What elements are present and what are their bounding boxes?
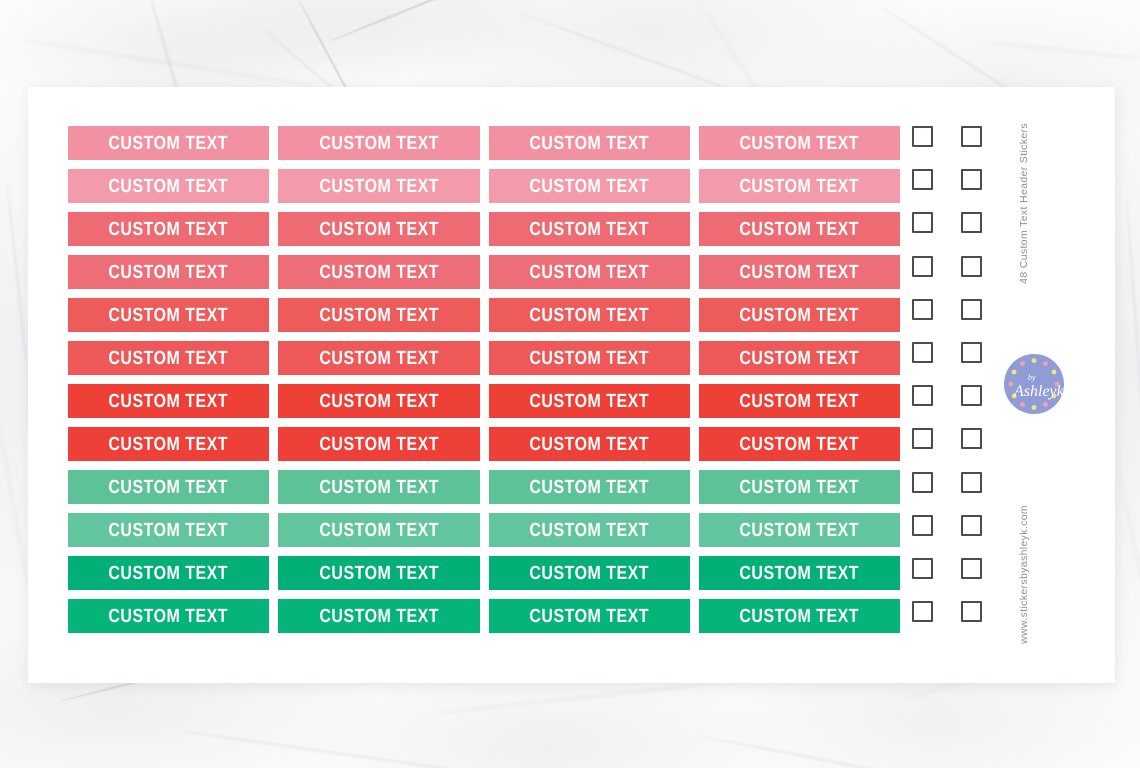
sticker[interactable]: CUSTOM TEXT	[68, 255, 269, 289]
checkbox-sticker[interactable]	[912, 126, 933, 147]
sticker[interactable]: CUSTOM TEXT	[699, 513, 900, 547]
checkbox-sticker[interactable]	[961, 169, 982, 190]
sticker[interactable]: CUSTOM TEXT	[699, 427, 900, 461]
sticker-label: CUSTOM TEXT	[529, 349, 649, 368]
sticker[interactable]: CUSTOM TEXT	[699, 169, 900, 203]
sticker[interactable]: CUSTOM TEXT	[489, 556, 690, 590]
sticker[interactable]: CUSTOM TEXT	[489, 427, 690, 461]
checkbox-sticker[interactable]	[912, 515, 933, 536]
sticker[interactable]: CUSTOM TEXT	[489, 212, 690, 246]
sticker-label: CUSTOM TEXT	[109, 306, 229, 325]
product-title-vertical: 48 Custom Text Header Stickers	[1018, 123, 1030, 284]
sticker[interactable]: CUSTOM TEXT	[278, 255, 479, 289]
sticker[interactable]: CUSTOM TEXT	[699, 126, 900, 160]
sticker-label: CUSTOM TEXT	[319, 220, 439, 239]
sticker-row: CUSTOM TEXT CUSTOM TEXT CUSTOM TEXT CUST…	[68, 427, 900, 461]
brand-badge: by Ashleyk	[1001, 351, 1067, 417]
sticker-row: CUSTOM TEXT CUSTOM TEXT CUSTOM TEXT CUST…	[68, 212, 900, 246]
sticker[interactable]: CUSTOM TEXT	[278, 341, 479, 375]
sticker-label: CUSTOM TEXT	[740, 607, 860, 626]
sticker[interactable]: CUSTOM TEXT	[278, 298, 479, 332]
checkbox-sticker[interactable]	[961, 256, 982, 277]
sticker-label: CUSTOM TEXT	[529, 220, 649, 239]
checkbox-sticker[interactable]	[912, 342, 933, 363]
sticker[interactable]: CUSTOM TEXT	[278, 126, 479, 160]
sticker[interactable]: CUSTOM TEXT	[68, 169, 269, 203]
sticker-label: CUSTOM TEXT	[740, 435, 860, 454]
sticker-row: CUSTOM TEXT CUSTOM TEXT CUSTOM TEXT CUST…	[68, 298, 900, 332]
sticker-label: CUSTOM TEXT	[529, 263, 649, 282]
checkbox-sticker[interactable]	[912, 385, 933, 406]
sticker-label: CUSTOM TEXT	[319, 134, 439, 153]
sticker-label: CUSTOM TEXT	[740, 134, 860, 153]
sticker-card: CUSTOM TEXT CUSTOM TEXT CUSTOM TEXT CUST…	[28, 87, 1115, 683]
sticker-label: CUSTOM TEXT	[109, 521, 229, 540]
checkbox-sticker[interactable]	[961, 126, 982, 147]
sticker-label: CUSTOM TEXT	[319, 478, 439, 497]
checkbox-sticker[interactable]	[961, 342, 982, 363]
sticker-label: CUSTOM TEXT	[109, 220, 229, 239]
sticker[interactable]: CUSTOM TEXT	[278, 556, 479, 590]
sticker-label: CUSTOM TEXT	[109, 263, 229, 282]
checkbox-sticker[interactable]	[912, 472, 933, 493]
sticker-row: CUSTOM TEXT CUSTOM TEXT CUSTOM TEXT CUST…	[68, 470, 900, 504]
sticker[interactable]: CUSTOM TEXT	[278, 212, 479, 246]
sticker[interactable]: CUSTOM TEXT	[278, 169, 479, 203]
checkbox-sticker[interactable]	[912, 212, 933, 233]
sticker-row: CUSTOM TEXT CUSTOM TEXT CUSTOM TEXT CUST…	[68, 513, 900, 547]
checkbox-sticker[interactable]	[912, 299, 933, 320]
sticker-row: CUSTOM TEXT CUSTOM TEXT CUSTOM TEXT CUST…	[68, 556, 900, 590]
sticker[interactable]: CUSTOM TEXT	[278, 427, 479, 461]
checkbox-sticker[interactable]	[912, 558, 933, 579]
brand-badge-icon: by Ashleyk	[1001, 351, 1067, 417]
sticker[interactable]: CUSTOM TEXT	[699, 556, 900, 590]
sticker[interactable]: CUSTOM TEXT	[489, 341, 690, 375]
sticker-sheet-page: CUSTOM TEXT CUSTOM TEXT CUSTOM TEXT CUST…	[0, 0, 1140, 768]
website-url-vertical: www.stickersbyashleyk.com	[1018, 505, 1030, 644]
sticker-label: CUSTOM TEXT	[109, 349, 229, 368]
sticker-grid: CUSTOM TEXT CUSTOM TEXT CUSTOM TEXT CUST…	[68, 126, 900, 642]
sticker[interactable]: CUSTOM TEXT	[278, 513, 479, 547]
sticker[interactable]: CUSTOM TEXT	[489, 169, 690, 203]
sticker[interactable]: CUSTOM TEXT	[68, 212, 269, 246]
checkbox-column-2	[961, 126, 982, 622]
sticker-label: CUSTOM TEXT	[740, 220, 860, 239]
sticker-label: CUSTOM TEXT	[109, 435, 229, 454]
sticker-label: CUSTOM TEXT	[529, 521, 649, 540]
checkbox-sticker[interactable]	[961, 515, 982, 536]
svg-text:Ashleyk: Ashleyk	[1013, 383, 1065, 400]
sticker-label: CUSTOM TEXT	[529, 134, 649, 153]
sticker[interactable]: CUSTOM TEXT	[278, 470, 479, 504]
sticker[interactable]: CUSTOM TEXT	[68, 470, 269, 504]
sticker-label: CUSTOM TEXT	[109, 564, 229, 583]
sticker-label: CUSTOM TEXT	[529, 435, 649, 454]
sticker[interactable]: CUSTOM TEXT	[699, 384, 900, 418]
checkbox-sticker[interactable]	[961, 428, 982, 449]
svg-text:by: by	[1028, 373, 1036, 382]
sticker[interactable]: CUSTOM TEXT	[699, 298, 900, 332]
checkbox-sticker-area	[912, 126, 982, 622]
sticker-row: CUSTOM TEXT CUSTOM TEXT CUSTOM TEXT CUST…	[68, 169, 900, 203]
sticker-label: CUSTOM TEXT	[529, 478, 649, 497]
checkbox-sticker[interactable]	[961, 385, 982, 406]
sticker-row: CUSTOM TEXT CUSTOM TEXT CUSTOM TEXT CUST…	[68, 341, 900, 375]
sticker-label: CUSTOM TEXT	[109, 478, 229, 497]
sticker-row: CUSTOM TEXT CUSTOM TEXT CUSTOM TEXT CUST…	[68, 599, 900, 633]
sticker-label: CUSTOM TEXT	[529, 177, 649, 196]
sticker-label: CUSTOM TEXT	[319, 521, 439, 540]
sticker-label: CUSTOM TEXT	[740, 392, 860, 411]
sticker-label: CUSTOM TEXT	[529, 564, 649, 583]
sticker-label: CUSTOM TEXT	[740, 478, 860, 497]
sticker-label: CUSTOM TEXT	[319, 392, 439, 411]
checkbox-sticker[interactable]	[961, 472, 982, 493]
sticker-label: CUSTOM TEXT	[319, 607, 439, 626]
sticker-label: CUSTOM TEXT	[319, 177, 439, 196]
sticker[interactable]: CUSTOM TEXT	[699, 470, 900, 504]
sticker-label: CUSTOM TEXT	[529, 607, 649, 626]
sticker[interactable]: CUSTOM TEXT	[489, 384, 690, 418]
sticker-label: CUSTOM TEXT	[319, 349, 439, 368]
sticker-label: CUSTOM TEXT	[319, 435, 439, 454]
sticker[interactable]: CUSTOM TEXT	[489, 470, 690, 504]
sticker[interactable]: CUSTOM TEXT	[68, 384, 269, 418]
sticker-label: CUSTOM TEXT	[740, 564, 860, 583]
checkbox-sticker[interactable]	[912, 169, 933, 190]
sticker-label: CUSTOM TEXT	[319, 263, 439, 282]
sticker[interactable]: CUSTOM TEXT	[489, 599, 690, 633]
sticker[interactable]: CUSTOM TEXT	[489, 298, 690, 332]
checkbox-sticker[interactable]	[961, 558, 982, 579]
sticker[interactable]: CUSTOM TEXT	[699, 255, 900, 289]
sticker-label: CUSTOM TEXT	[740, 306, 860, 325]
sticker-label: CUSTOM TEXT	[109, 177, 229, 196]
checkbox-sticker[interactable]	[912, 601, 933, 622]
checkbox-sticker[interactable]	[961, 299, 982, 320]
sticker-label: CUSTOM TEXT	[529, 306, 649, 325]
sticker-label: CUSTOM TEXT	[740, 177, 860, 196]
checkbox-sticker[interactable]	[961, 601, 982, 622]
sticker[interactable]: CUSTOM TEXT	[699, 599, 900, 633]
sticker[interactable]: CUSTOM TEXT	[68, 599, 269, 633]
sticker-row: CUSTOM TEXT CUSTOM TEXT CUSTOM TEXT CUST…	[68, 126, 900, 160]
sticker-label: CUSTOM TEXT	[740, 349, 860, 368]
sticker-row: CUSTOM TEXT CUSTOM TEXT CUSTOM TEXT CUST…	[68, 384, 900, 418]
sticker-label: CUSTOM TEXT	[319, 564, 439, 583]
sticker[interactable]: CUSTOM TEXT	[278, 599, 479, 633]
sticker[interactable]: CUSTOM TEXT	[68, 427, 269, 461]
checkbox-sticker[interactable]	[912, 428, 933, 449]
checkbox-column-1	[912, 126, 933, 622]
checkbox-sticker[interactable]	[912, 256, 933, 277]
sticker[interactable]: CUSTOM TEXT	[278, 384, 479, 418]
sticker[interactable]: CUSTOM TEXT	[489, 126, 690, 160]
sticker[interactable]: CUSTOM TEXT	[68, 556, 269, 590]
sticker-label: CUSTOM TEXT	[109, 392, 229, 411]
sticker-label: CUSTOM TEXT	[529, 392, 649, 411]
sticker-label: CUSTOM TEXT	[109, 607, 229, 626]
sticker-label: CUSTOM TEXT	[740, 263, 860, 282]
sticker-label: CUSTOM TEXT	[319, 306, 439, 325]
sticker[interactable]: CUSTOM TEXT	[68, 298, 269, 332]
sticker[interactable]: CUSTOM TEXT	[68, 126, 269, 160]
checkbox-sticker[interactable]	[961, 212, 982, 233]
sticker-label: CUSTOM TEXT	[740, 521, 860, 540]
sticker[interactable]: CUSTOM TEXT	[68, 513, 269, 547]
sticker-row: CUSTOM TEXT CUSTOM TEXT CUSTOM TEXT CUST…	[68, 255, 900, 289]
sticker[interactable]: CUSTOM TEXT	[489, 255, 690, 289]
sticker[interactable]: CUSTOM TEXT	[699, 341, 900, 375]
sticker-label: CUSTOM TEXT	[109, 134, 229, 153]
sticker[interactable]: CUSTOM TEXT	[699, 212, 900, 246]
sticker[interactable]: CUSTOM TEXT	[68, 341, 269, 375]
sticker[interactable]: CUSTOM TEXT	[489, 513, 690, 547]
